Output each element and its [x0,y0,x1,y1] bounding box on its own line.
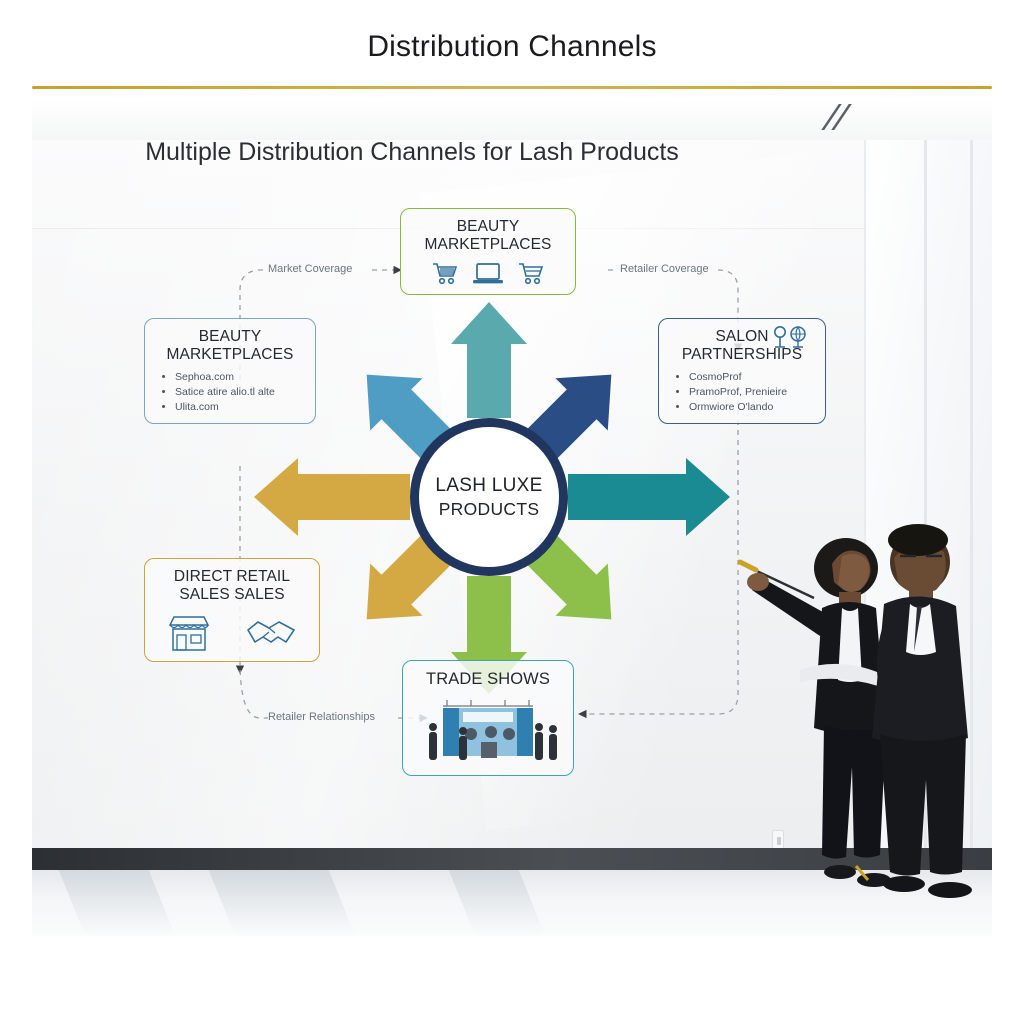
trade-show-booth-icon [413,692,563,770]
laptop-icon [472,262,504,286]
list-item: PramoProf, Prenieire [689,385,817,400]
center-label-line1: LASH LUXE [435,475,542,497]
list-item: Satice atire alio.tl alte [175,385,307,400]
node-salon-partnerships[interactable]: SALON PARTNERSHIPS CosmoProf PramoProf, … [658,318,826,424]
presentation-photo: Multiple Distribution Channels for Lash … [32,100,992,936]
node-item-list: CosmoProf PramoProf, Prenieire Ormwiore … [667,370,817,416]
presenter-woman [740,538,891,887]
shopping-cart-icon [432,262,458,286]
list-item: Sephoa.com [175,370,307,385]
storefront-icon [167,614,211,652]
people-group [704,520,992,936]
node-title-line1: DIRECT RETAIL [174,568,290,585]
center-label-line2: PRODUCTS [439,499,540,520]
node-trade-shows[interactable]: TRADE SHOWS [402,660,574,776]
arrow-west [254,458,410,536]
center-node-lash-luxe-products[interactable]: LASH LUXE PRODUCTS [410,418,568,576]
handshake-icon [245,616,297,652]
salon-globe-icon [771,325,811,351]
list-item: Ulita.com [175,400,307,415]
node-title-line2: SALES SALES [179,586,284,603]
node-beauty-marketplaces-left[interactable]: BEAUTY MARKETPLACES Sephoa.com Satice at… [144,318,316,424]
node-title-line1: TRADE SHOWS [426,670,550,688]
node-title-line1: BEAUTY [457,218,520,235]
node-item-list: Sephoa.com Satice atire alio.tl alte Uli… [153,370,307,416]
icon-row [153,614,311,652]
node-title-line1: BEAUTY [199,328,262,345]
list-item: CosmoProf [689,370,817,385]
list-item: Ormwiore O'lando [689,400,817,415]
node-beauty-marketplaces-top[interactable]: BEAUTY MARKETPLACES [400,208,576,295]
node-title-line2: MARKETPLACES [425,236,552,253]
page-title: Distribution Channels [0,30,1024,64]
node-direct-retail-sales[interactable]: DIRECT RETAIL SALES SALES [144,558,320,662]
slide-root: Distribution Channels Multiple Distribut… [0,0,1024,1024]
shopping-cart-icon [518,262,544,286]
title-divider [32,86,992,89]
colleague-man [872,524,972,898]
node-title-line2: MARKETPLACES [167,346,294,363]
arrow-north [451,302,527,418]
node-title-line1: SALON [715,328,768,345]
icon-row [409,262,567,286]
